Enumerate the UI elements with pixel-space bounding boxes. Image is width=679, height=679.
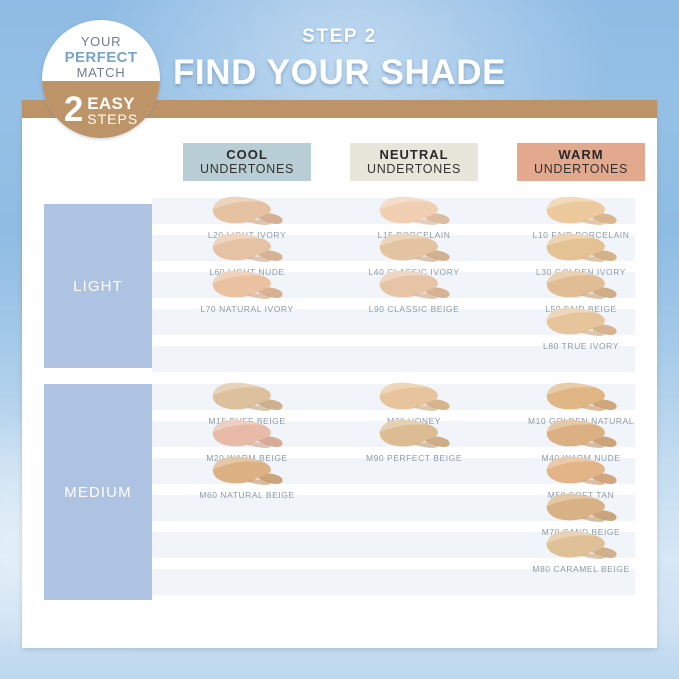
shade-name-label: M90 PERFECT BEIGE xyxy=(339,453,489,463)
undertone-title: COOL xyxy=(226,148,268,163)
shade-cell[interactable]: M60 NATURAL BEIGE xyxy=(172,455,322,500)
foundation-swatch-icon xyxy=(533,232,629,266)
swatch-blob xyxy=(366,269,462,303)
shade-cell[interactable]: L80 TRUE IVORY xyxy=(506,306,656,351)
foundation-swatch-icon xyxy=(533,492,629,526)
swatch-blob xyxy=(533,418,629,452)
badge-step-number: 2 xyxy=(64,95,83,125)
swatch-blob xyxy=(366,195,462,229)
category-block-medium: MEDIUM xyxy=(44,384,152,600)
swatch-blob xyxy=(199,455,295,489)
foundation-swatch-icon xyxy=(199,455,295,489)
shade-name-label: L70 NATURAL IVORY xyxy=(172,304,322,314)
swatch-blob xyxy=(366,418,462,452)
shade-cell[interactable]: L70 NATURAL IVORY xyxy=(172,269,322,314)
foundation-swatch-icon xyxy=(199,418,295,452)
perfect-match-badge: YOUR PERFECT MATCH 2 EASY STEPS xyxy=(42,20,160,138)
undertone-subtitle: UNDERTONES xyxy=(367,162,461,176)
foundation-swatch-icon xyxy=(366,195,462,229)
undertone-subtitle: UNDERTONES xyxy=(534,162,628,176)
foundation-swatch-icon xyxy=(533,381,629,415)
swatch-blob xyxy=(533,455,629,489)
badge-step-words: EASY STEPS xyxy=(87,95,138,126)
badge-lower-text: 2 EASY STEPS xyxy=(42,95,160,126)
swatch-blob xyxy=(533,232,629,266)
foundation-swatch-icon xyxy=(199,381,295,415)
swatch-blob xyxy=(199,269,295,303)
infographic-poster: STEP 2 FIND YOUR SHADE YOUR PERFECT MATC… xyxy=(0,0,679,679)
shade-cell[interactable]: L90 CLASSIC BEIGE xyxy=(339,269,489,314)
swatch-blob xyxy=(533,195,629,229)
shade-cell[interactable]: M90 PERFECT BEIGE xyxy=(339,418,489,463)
badge-word-easy: EASY xyxy=(87,95,138,112)
swatch-blob xyxy=(199,381,295,415)
undertone-title: WARM xyxy=(558,148,603,163)
badge-word-steps: STEPS xyxy=(87,112,138,126)
swatch-blob xyxy=(366,232,462,266)
foundation-swatch-icon xyxy=(199,269,295,303)
shade-name-label: M80 CARAMEL BEIGE xyxy=(506,564,656,574)
badge-line-2: PERFECT xyxy=(42,50,160,67)
undertone-title: NEUTRAL xyxy=(379,148,448,163)
category-block-light: LIGHT xyxy=(44,204,152,368)
category-label: MEDIUM xyxy=(64,484,131,501)
foundation-swatch-icon xyxy=(533,418,629,452)
swatch-blob xyxy=(533,492,629,526)
foundation-swatch-icon xyxy=(199,195,295,229)
swatch-blob xyxy=(199,232,295,266)
foundation-swatch-icon xyxy=(533,269,629,303)
badge-line-3: MATCH xyxy=(42,66,160,81)
swatch-blob xyxy=(533,306,629,340)
swatch-blob xyxy=(533,269,629,303)
undertone-header-neutral[interactable]: NEUTRALUNDERTONES xyxy=(350,143,478,181)
undertone-subtitle: UNDERTONES xyxy=(200,162,294,176)
swatch-blob xyxy=(199,418,295,452)
swatch-blob xyxy=(366,381,462,415)
foundation-swatch-icon xyxy=(533,195,629,229)
foundation-swatch-icon xyxy=(366,232,462,266)
swatch-blob xyxy=(533,529,629,563)
badge-line-1: YOUR xyxy=(42,35,160,50)
foundation-swatch-icon xyxy=(533,529,629,563)
undertone-header-warm[interactable]: WARMUNDERTONES xyxy=(517,143,645,181)
foundation-swatch-icon xyxy=(366,269,462,303)
swatch-blob xyxy=(533,381,629,415)
foundation-swatch-icon xyxy=(199,232,295,266)
foundation-swatch-icon xyxy=(533,455,629,489)
foundation-swatch-icon xyxy=(366,418,462,452)
badge-upper-text: YOUR PERFECT MATCH xyxy=(42,35,160,81)
category-label: LIGHT xyxy=(73,278,123,295)
undertone-header-cool[interactable]: COOLUNDERTONES xyxy=(183,143,311,181)
shade-name-label: L80 TRUE IVORY xyxy=(506,341,656,351)
shade-name-label: M60 NATURAL BEIGE xyxy=(172,490,322,500)
swatch-blob xyxy=(199,195,295,229)
foundation-swatch-icon xyxy=(366,381,462,415)
shade-cell[interactable]: M80 CARAMEL BEIGE xyxy=(506,529,656,574)
foundation-swatch-icon xyxy=(533,306,629,340)
shade-name-label: L90 CLASSIC BEIGE xyxy=(339,304,489,314)
